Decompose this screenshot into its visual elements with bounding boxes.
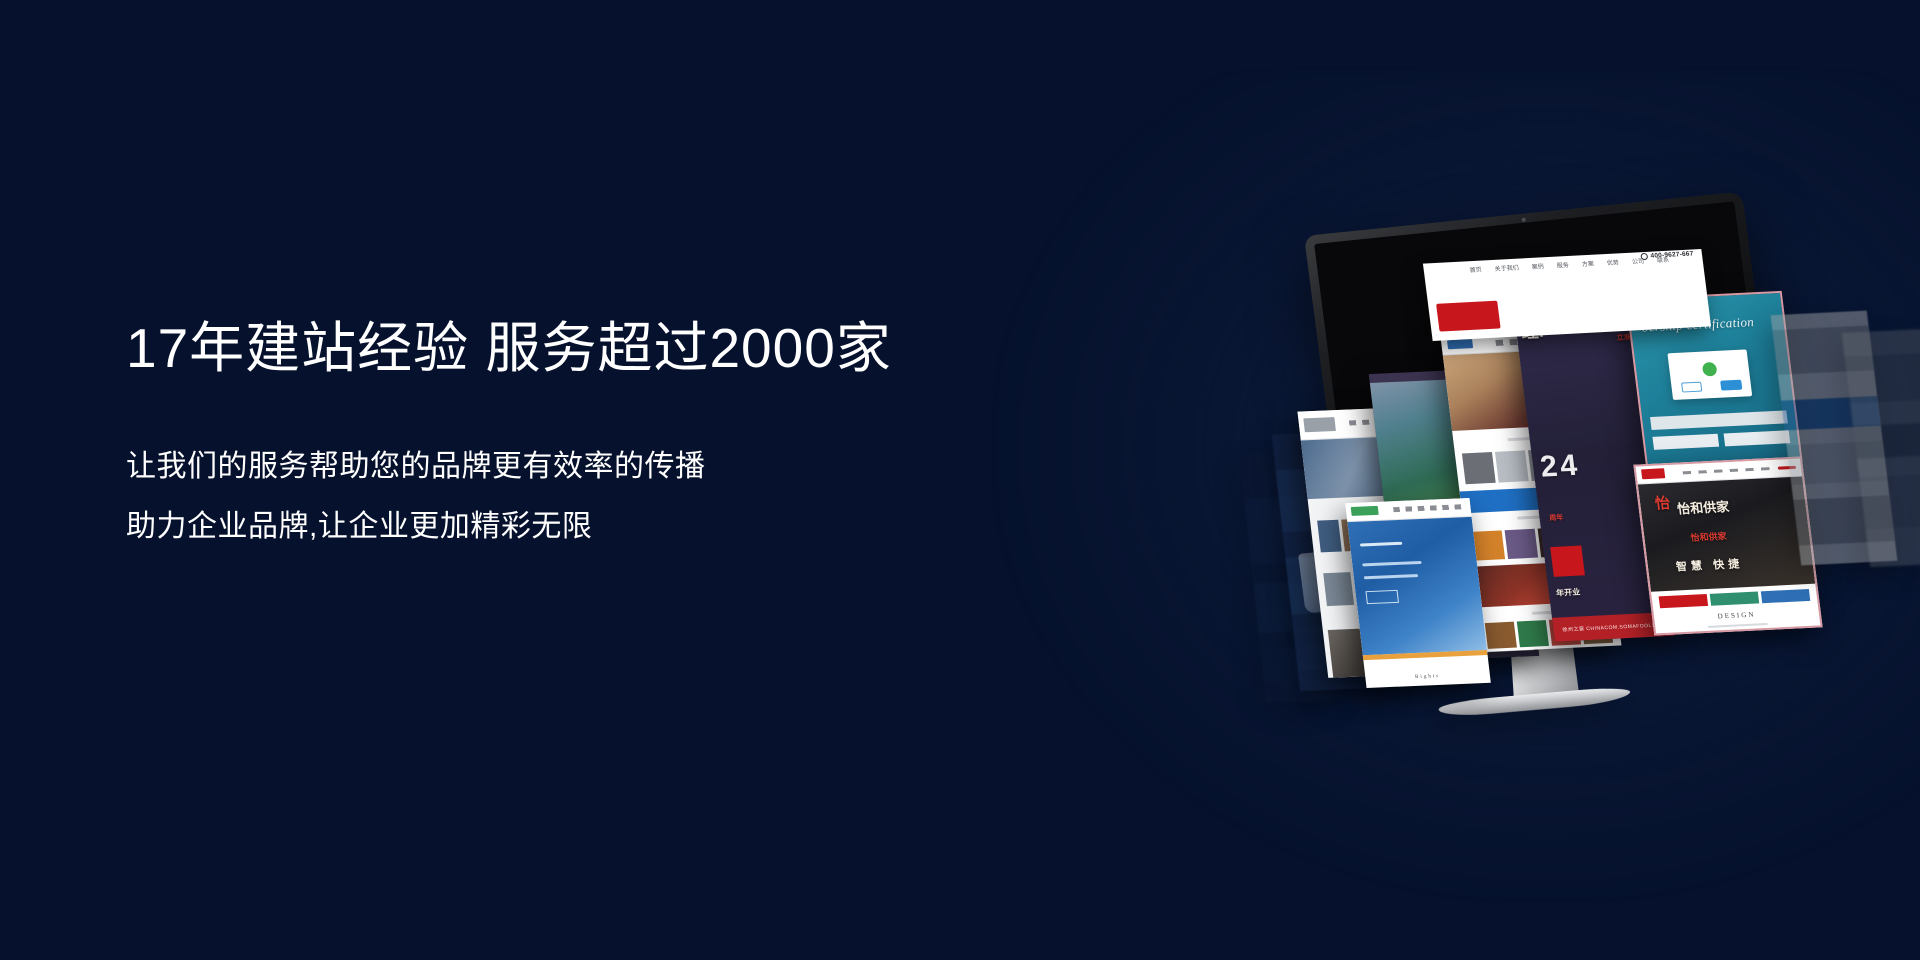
monitor-screen: [1314, 201, 1773, 542]
hero-banner: 17年建站经验 服务超过2000家 让我们的服务帮助您的品牌更有效率的传播 助力…: [0, 0, 1920, 960]
circle-logo-icon: [1523, 551, 1542, 570]
hero-copy: 17年建站经验 服务超过2000家 让我们的服务帮助您的品牌更有效率的传播 助力…: [126, 318, 1126, 542]
hero-subtitle-line-1: 让我们的服务帮助您的品牌更有效率的传播: [126, 452, 1126, 482]
hero-subtitle-block: 让我们的服务帮助您的品牌更有效率的传播 助力企业品牌,让企业更加精彩无限: [126, 452, 1126, 542]
imac-monitor: [1290, 236, 1860, 716]
page-title: 17年建站经验 服务超过2000家: [126, 318, 1126, 380]
webcam-icon: [1521, 218, 1525, 222]
hero-subtitle-line-2: 助力企业品牌,让企业更加精彩无限: [126, 512, 1126, 542]
